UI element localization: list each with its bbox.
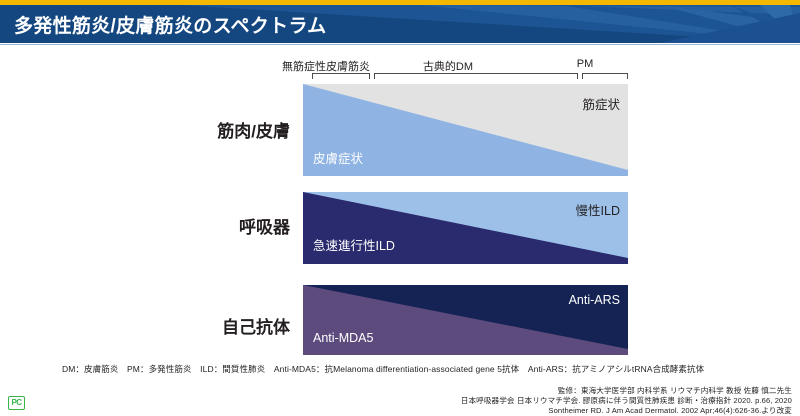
category-label-pm: PM [555, 58, 615, 70]
band-text-anti-ars: Anti-ARS [569, 293, 620, 307]
category-label-amyopathic-dm: 無筋症性皮膚筋炎 [276, 58, 376, 74]
row-label-respiratory: 呼吸器 [180, 213, 290, 238]
abbreviation-footnote: DM：皮膚筋炎 PM：多発性筋炎 ILD：間質性肺炎 Anti-MDA5：抗Me… [62, 363, 704, 375]
header-underline [0, 43, 800, 47]
band-text-muscle-symptoms: 筋症状 [582, 94, 620, 113]
band-text-anti-mda5: Anti-MDA5 [313, 331, 373, 345]
band-autoantibody: Anti-ARS Anti-MDA5 [303, 285, 628, 355]
header-underline-hairline [0, 44, 800, 45]
category-bracket-amyopathic-dm [312, 73, 370, 79]
page-title: 多発性筋炎/皮膚筋炎のスペクトラム [14, 11, 326, 38]
citation-source-journal: Sontheimer RD. J Am Acad Dermatol. 2002 … [548, 405, 792, 416]
slide-header: 多発性筋炎/皮膚筋炎のスペクトラム [0, 0, 800, 47]
category-bracket-classic-dm [374, 73, 578, 79]
band-text-skin-symptoms: 皮膚症状 [313, 148, 363, 167]
band-muscle-skin: 筋症状 皮膚症状 [303, 84, 628, 176]
band-respiratory: 慢性ILD 急速進行性ILD [303, 192, 628, 264]
category-bracket-pm [582, 73, 628, 79]
pc-logo-text: PC [11, 399, 21, 407]
band-text-rapidly-progressive-ild: 急速進行性ILD [313, 235, 395, 254]
pc-logo: PC [8, 396, 25, 410]
row-label-muscle-skin: 筋肉/皮膚 [180, 117, 290, 142]
band-text-chronic-ild: 慢性ILD [576, 200, 620, 219]
category-label-classic-dm: 古典的DM [398, 58, 498, 74]
row-label-autoantibody: 自己抗体 [180, 313, 290, 338]
